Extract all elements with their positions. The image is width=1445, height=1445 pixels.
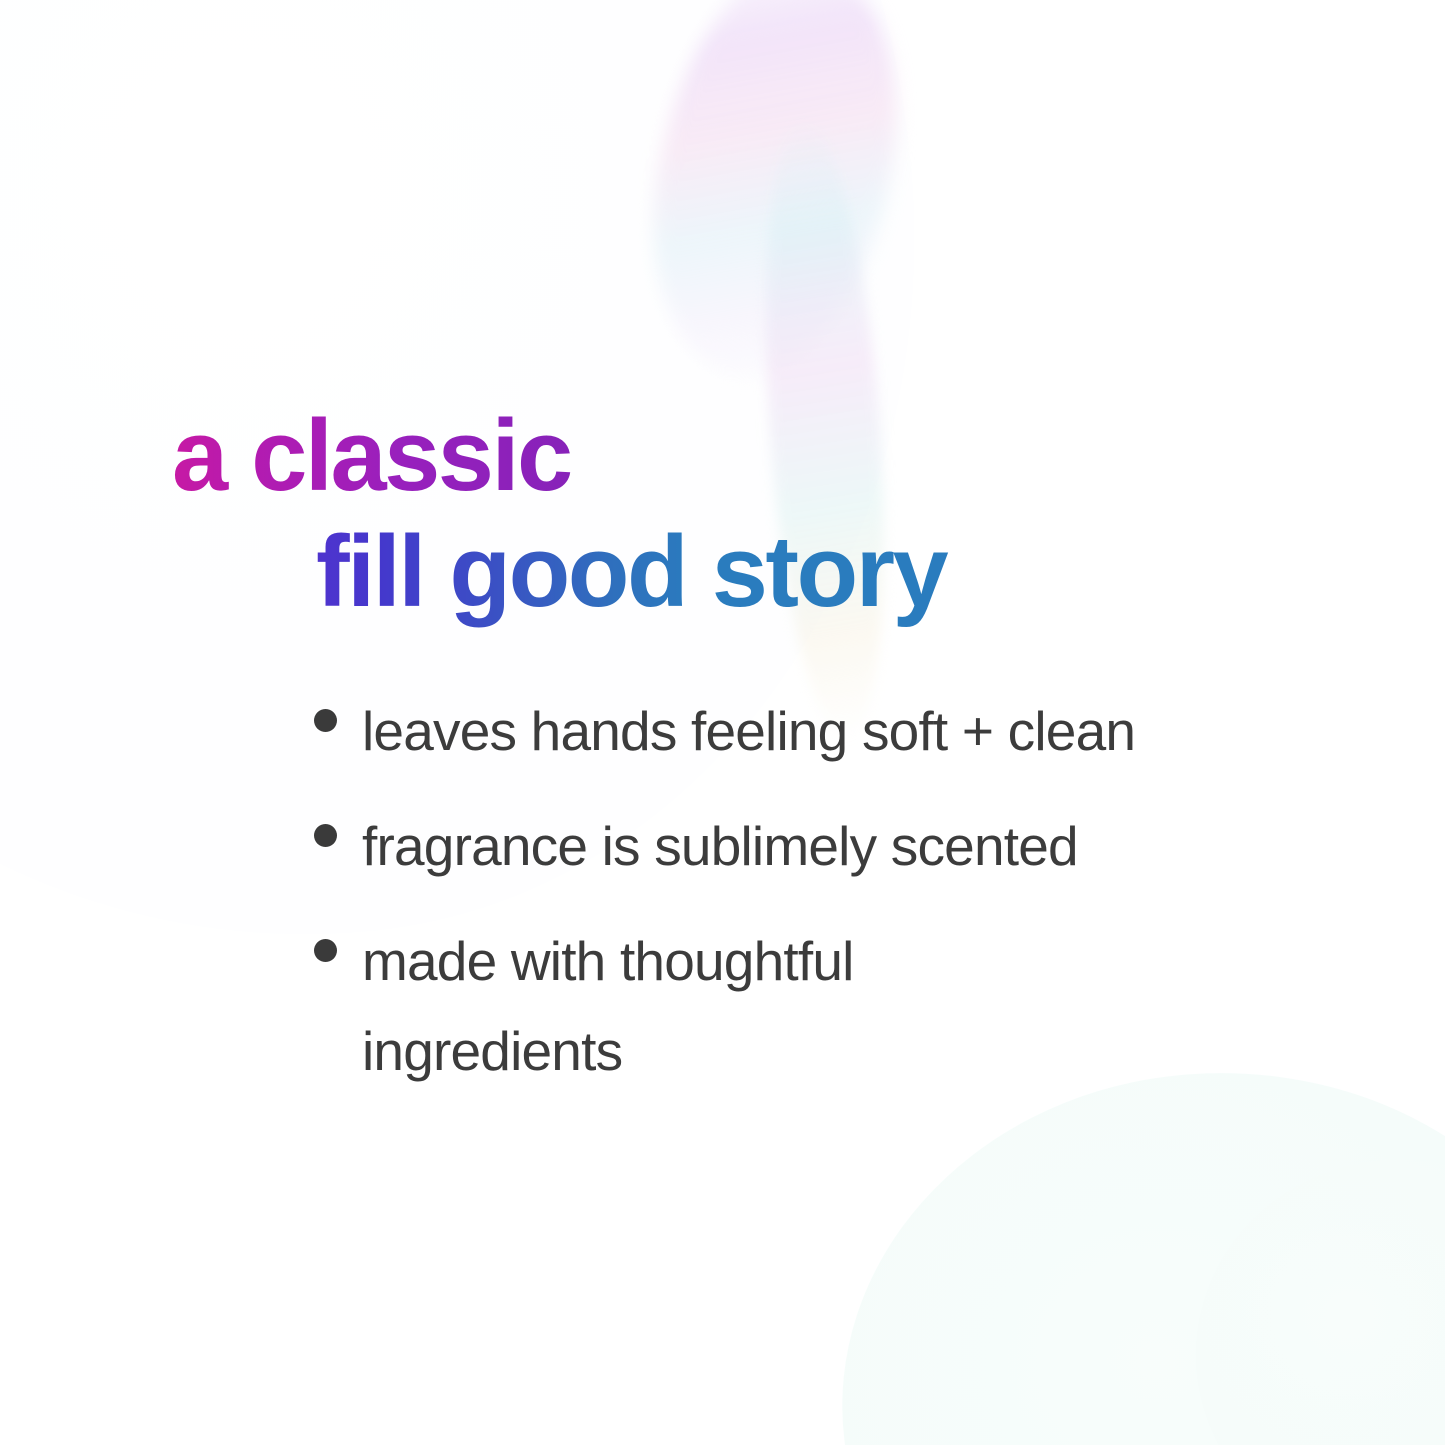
list-item-label: fragrance is sublimely scented bbox=[362, 801, 1078, 891]
headline-line-2: fill good story bbox=[0, 514, 1445, 630]
card-content: a classic fill good story leaves hands f… bbox=[0, 0, 1445, 1445]
bullet-dot-icon bbox=[314, 824, 337, 847]
list-item-label: made with thoughtful ingredients bbox=[362, 916, 1022, 1096]
list-item: made with thoughtful ingredients bbox=[0, 916, 1445, 1096]
product-feature-card: a classic fill good story leaves hands f… bbox=[0, 0, 1445, 1445]
bullet-dot-icon bbox=[314, 939, 337, 962]
list-item: leaves hands feeling soft + clean bbox=[0, 686, 1445, 776]
headline-line-1: a classic bbox=[0, 398, 1445, 514]
list-item-label: leaves hands feeling soft + clean bbox=[362, 686, 1135, 776]
feature-bullet-list: leaves hands feeling soft + clean fragra… bbox=[0, 686, 1445, 1121]
list-item: fragrance is sublimely scented bbox=[0, 801, 1445, 891]
headline: a classic fill good story bbox=[0, 398, 1445, 630]
bullet-dot-icon bbox=[314, 709, 337, 732]
